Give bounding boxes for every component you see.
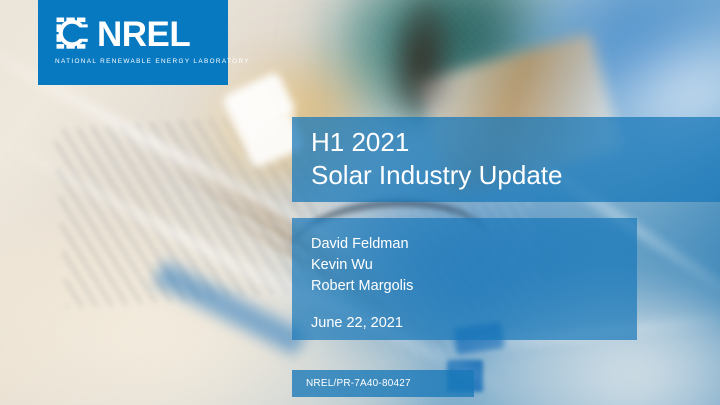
authors-inner: David Feldman Kevin Wu Robert Margolis J… [292,218,637,334]
report-number-box: NREL/PR-7A40-80427 [292,370,474,397]
nrel-wordmark: NREL [97,17,190,53]
author-name: Kevin Wu [311,255,637,276]
nrel-circle-mark-icon [55,16,93,54]
nrel-logo-inner: NREL NATIONAL RENEWABLE ENERGY LABORATOR… [55,16,213,66]
report-number: NREL/PR-7A40-80427 [306,378,411,389]
title-line-2: Solar Industry Update [311,159,720,192]
author-name: David Feldman [311,234,637,255]
title-band: H1 2021 Solar Industry Update [292,117,720,202]
title-line-1: H1 2021 [311,117,720,159]
authors-box: David Feldman Kevin Wu Robert Margolis J… [292,218,637,340]
author-name: Robert Margolis [311,276,637,297]
nrel-tagline: NATIONAL RENEWABLE ENERGY LABORATORY [55,57,213,66]
presentation-date: June 22, 2021 [311,313,637,334]
nrel-logo-row: NREL [55,16,213,54]
presentation-title-slide: NREL NATIONAL RENEWABLE ENERGY LABORATOR… [0,0,720,405]
nrel-logo-block: NREL NATIONAL RENEWABLE ENERGY LABORATOR… [38,0,228,85]
